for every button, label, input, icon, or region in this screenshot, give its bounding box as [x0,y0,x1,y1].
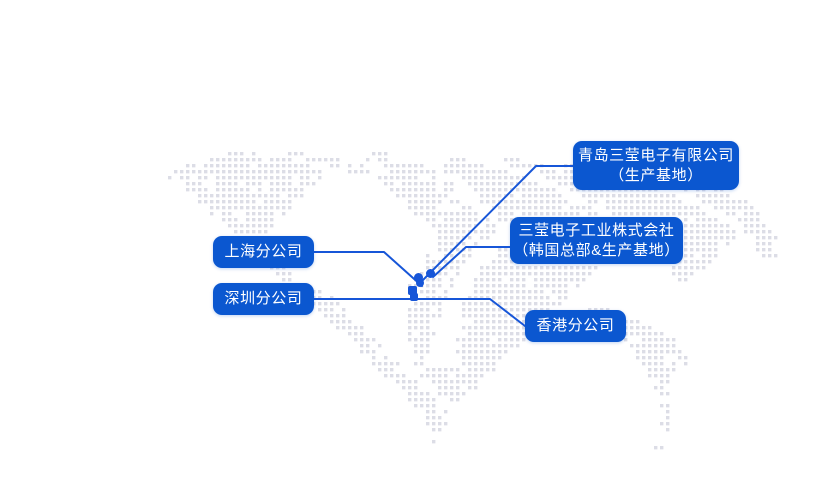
leader-lines-layer [0,0,824,480]
callout-qingdao-line-1: 青岛三莹电子有限公司 [578,146,734,166]
callout-shanghai-line-1: 上海分公司 [224,242,302,262]
callout-qingdao[interactable]: 青岛三莹电子有限公司（生产基地） [573,141,739,190]
leader-line-korea [433,247,510,277]
callout-korea-hq-line-1: 三莹电子工业株式会社 [518,221,674,241]
callout-korea-hq[interactable]: 三莹电子工业株式会社（韩国总部&生产基地） [510,217,683,264]
callout-hongkong[interactable]: 香港分公司 [525,310,626,342]
map-marker-shanghai[interactable] [416,279,424,287]
callout-shenzhen-line-1: 深圳分公司 [224,289,302,309]
world-map-infographic: 青岛三莹电子有限公司（生产基地）三莹电子工业株式会社（韩国总部&生产基地）上海分… [0,0,824,480]
callout-qingdao-line-2: （生产基地） [609,166,703,186]
callout-shenzhen[interactable]: 深圳分公司 [213,283,314,315]
leader-line-shanghai [314,252,422,286]
callout-shanghai[interactable]: 上海分公司 [213,236,314,268]
map-marker-korea[interactable] [426,269,435,278]
callout-korea-hq-line-2: （韩国总部&生产基地） [513,241,680,261]
map-marker-hongkong[interactable] [410,293,418,301]
callout-hongkong-line-1: 香港分公司 [536,316,614,336]
leader-line-hongkong [416,299,525,326]
